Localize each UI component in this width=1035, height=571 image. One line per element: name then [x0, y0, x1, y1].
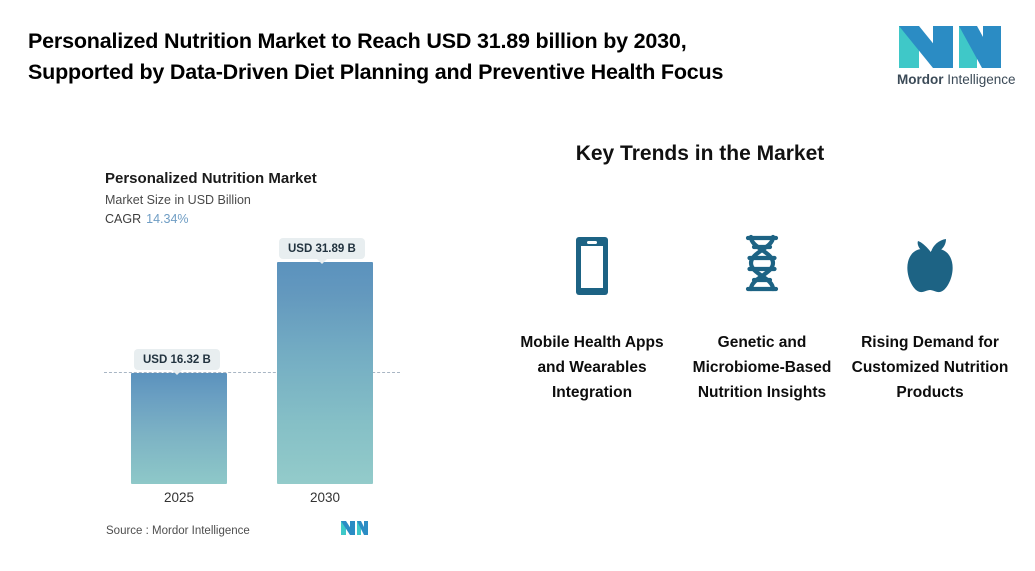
chart-source: Source : Mordor Intelligence — [106, 525, 250, 537]
header: Personalized Nutrition Market to Reach U… — [0, 0, 1035, 115]
mobile-phone-icon — [512, 230, 672, 302]
bar-value-label-2030: USD 31.89 B — [279, 238, 365, 259]
page-title: Personalized Nutrition Market to Reach U… — [28, 26, 858, 88]
apple-icon — [850, 230, 1010, 302]
page-title-line-2: Supported by Data-Driven Diet Planning a… — [28, 57, 858, 88]
trend-item-3-label: Rising Demand for Customized Nutrition P… — [850, 330, 1010, 405]
trend-item-1-label: Mobile Health Apps and Wearables Integra… — [512, 330, 672, 405]
dna-helix-icon — [682, 230, 842, 302]
trend-item-2-label: Genetic and Microbiome-Based Nutrition I… — [682, 330, 842, 405]
key-trends-panel: Key Trends in the Market Mobile Health A… — [490, 120, 1035, 560]
x-axis-label-2030: 2030 — [255, 490, 395, 505]
brand-name-primary: Mordor — [897, 72, 944, 87]
x-axis-label-2025: 2025 — [109, 490, 249, 505]
mordor-intelligence-logo-icon — [897, 18, 1005, 70]
brand-name-secondary: Intelligence — [944, 72, 1016, 87]
trend-item-1: Mobile Health Apps and Wearables Integra… — [512, 230, 672, 405]
trend-item-3: Rising Demand for Customized Nutrition P… — [850, 230, 1010, 405]
chart-panel: Personalized Nutrition Market Market Siz… — [0, 120, 470, 560]
infographic-page: Personalized Nutrition Market to Reach U… — [0, 0, 1035, 571]
bar-chart-plot: USD 16.32 B USD 31.89 B 2025 2030 — [0, 120, 470, 560]
bar-2025 — [131, 373, 227, 484]
key-trends-heading: Key Trends in the Market — [490, 142, 910, 166]
source-mordor-mark-icon — [341, 520, 369, 536]
trend-item-2: Genetic and Microbiome-Based Nutrition I… — [682, 230, 842, 405]
brand-logo-text: Mordor Intelligence — [897, 72, 1007, 87]
brand-logo: Mordor Intelligence — [897, 18, 1007, 96]
page-title-line-1: Personalized Nutrition Market to Reach U… — [28, 26, 858, 57]
bar-value-label-2025: USD 16.32 B — [134, 349, 220, 370]
bar-2030 — [277, 262, 373, 484]
